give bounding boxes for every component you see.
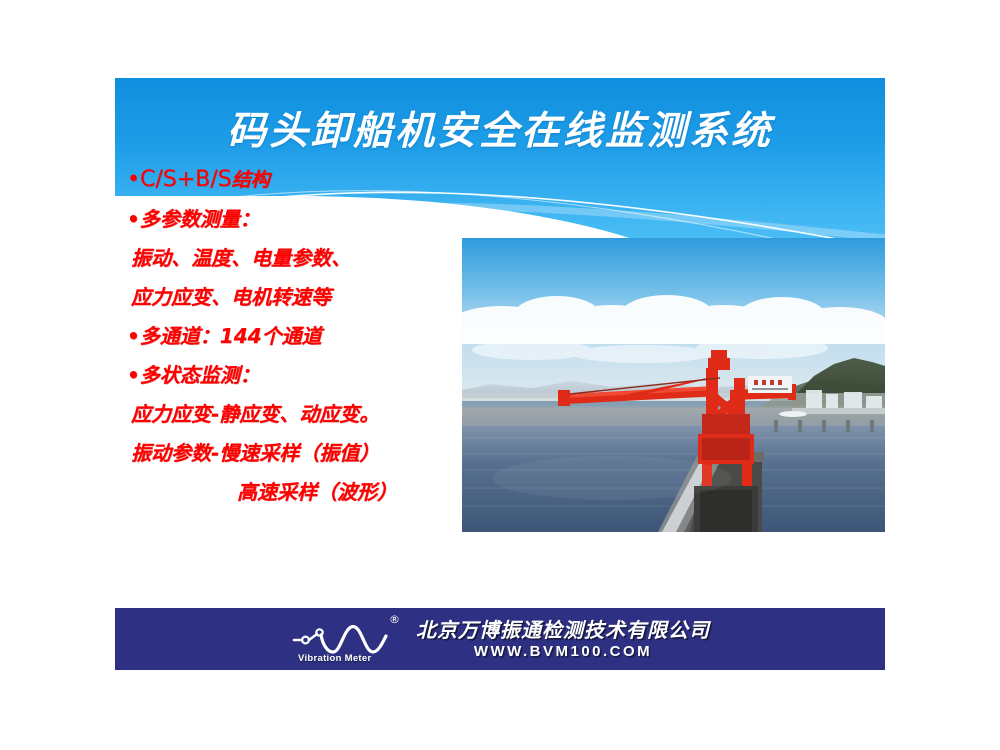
slide-canvas: 码头卸船机安全在线监测系统 •C/S+B/S结构 •多参数测量： 振动、温度、电… <box>0 0 1000 750</box>
bullet-param-list-1: 振动、温度、电量参数、 <box>127 239 477 278</box>
footer-bar: ® Vibration Meter 北京万博振通检测技术有限公司 WWW.BVM… <box>115 608 885 670</box>
bullet-cs-bs: •C/S+B/S结构 <box>127 160 477 200</box>
logo-wordmark: Vibration Meter <box>298 653 371 664</box>
bullet-vib-slow: 振动参数-慢速采样（振值） <box>127 434 477 473</box>
bullet-cs-bs-cjk: 结构 <box>232 169 270 191</box>
bullet-param-list-2: 应力应变、电机转速等 <box>127 278 477 317</box>
bullet-strain-line: 应力应变-静应变、动应变。 <box>127 395 477 434</box>
company-website: WWW.BVM100.COM <box>416 644 710 659</box>
bullet-vib-fast: 高速采样（波形） <box>127 473 477 512</box>
bullet-list: •C/S+B/S结构 •多参数测量： 振动、温度、电量参数、 应力应变、电机转速… <box>127 160 477 512</box>
bullet-multi-channel: •多通道：144个通道 <box>127 317 477 356</box>
bullet-multi-state: •多状态监测： <box>127 356 477 395</box>
presentation-slide: 码头卸船机安全在线监测系统 •C/S+B/S结构 •多参数测量： 振动、温度、电… <box>115 78 885 670</box>
company-identity: 北京万博振通检测技术有限公司 WWW.BVM100.COM <box>416 620 710 659</box>
footer-content: ® Vibration Meter 北京万博振通检测技术有限公司 WWW.BVM… <box>115 608 885 670</box>
port-ship-unloader-photo <box>462 238 885 532</box>
vibration-meter-logo: ® Vibration Meter <box>290 614 402 664</box>
registered-mark-icon: ® <box>389 614 400 625</box>
company-name: 北京万博振通检测技术有限公司 <box>416 620 710 640</box>
slide-title: 码头卸船机安全在线监测系统 <box>115 100 885 156</box>
bullet-cs-bs-ascii: •C/S+B/S <box>127 167 232 192</box>
bullet-multi-param: •多参数测量： <box>127 200 477 239</box>
